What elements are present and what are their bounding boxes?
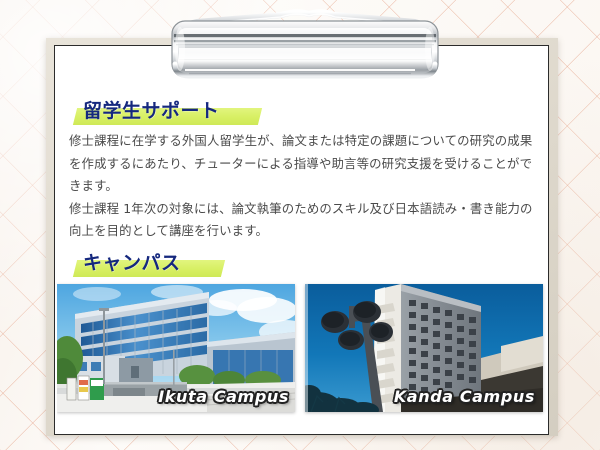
kanda-campus-photo: Kanda Campus xyxy=(305,284,543,412)
support-body-text: 修士課程に在学する外国人留学生が、論文または特定の課題についての研究の成果を作成… xyxy=(69,130,533,243)
ikuta-campus-photo: Ikuta Campus xyxy=(57,284,295,412)
section-heading-campus: キャンパス xyxy=(71,248,271,282)
section-heading-support: 留学生サポート xyxy=(71,96,311,130)
ikuta-campus-caption: Ikuta Campus xyxy=(158,387,289,406)
section-heading-campus-label: キャンパス xyxy=(71,248,271,278)
metal-clip xyxy=(163,4,448,92)
section-heading-support-label: 留学生サポート xyxy=(71,96,311,126)
paper-sheet: 留学生サポート 修士課程に在学する外国人留学生が、論文または特定の課題についての… xyxy=(57,48,546,432)
campus-photo-row: Ikuta Campus xyxy=(57,284,546,414)
kanda-campus-caption: Kanda Campus xyxy=(394,387,535,406)
